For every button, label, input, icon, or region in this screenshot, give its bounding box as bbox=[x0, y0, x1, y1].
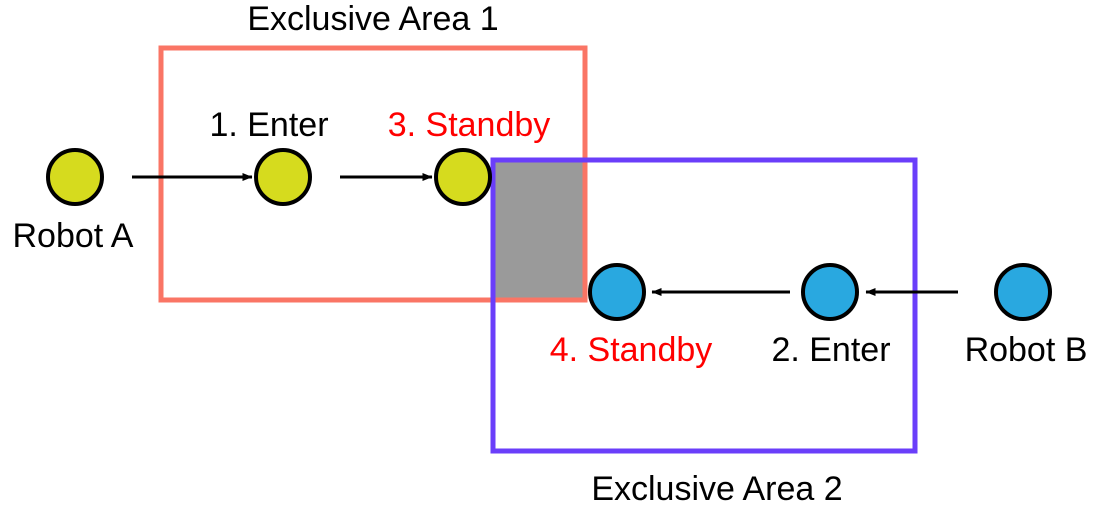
step-1-enter-label: 1. Enter bbox=[209, 106, 328, 144]
robot-a-standby-node[interactable] bbox=[436, 150, 490, 204]
robot-a-start-node[interactable] bbox=[48, 150, 102, 204]
exclusive-area-1-title: Exclusive Area 1 bbox=[247, 0, 498, 38]
robot-b-entered-node[interactable] bbox=[803, 265, 857, 319]
diagram-canvas: Exclusive Area 1 Exclusive Area 2 Robot … bbox=[0, 0, 1101, 514]
exclusive-area-2-title: Exclusive Area 2 bbox=[591, 470, 842, 508]
step-4-standby-label: 4. Standby bbox=[550, 331, 713, 369]
step-2-enter-label: 2. Enter bbox=[771, 331, 890, 369]
robot-a-entered-node[interactable] bbox=[256, 150, 310, 204]
robot-b-label: Robot B bbox=[965, 331, 1088, 369]
exclusive-area-robot-diagram: Exclusive Area 1 Exclusive Area 2 Robot … bbox=[0, 0, 1101, 514]
overlap-region bbox=[493, 160, 585, 300]
step-3-standby-label: 3. Standby bbox=[388, 106, 551, 144]
robot-b-standby-node[interactable] bbox=[590, 265, 644, 319]
robot-b-start-node[interactable] bbox=[996, 265, 1050, 319]
robot-a-label: Robot A bbox=[13, 217, 134, 255]
